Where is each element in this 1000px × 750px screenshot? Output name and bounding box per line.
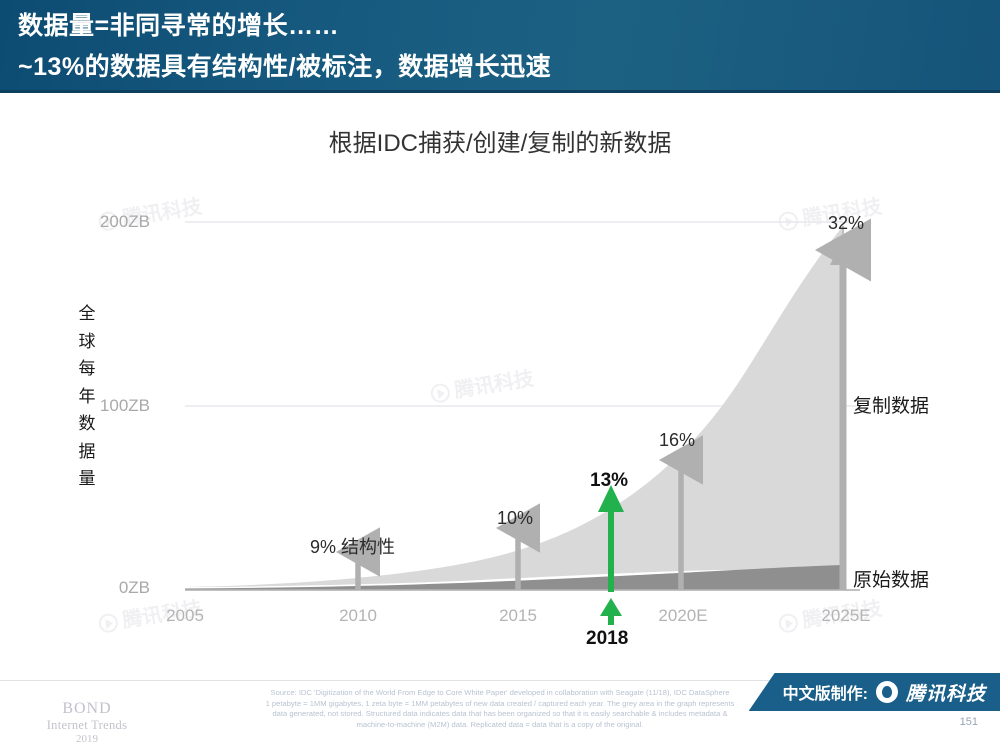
source-note-line-2: 1 petabyte = 1MM gigabytes, 1 zeta byte … — [180, 699, 820, 710]
bond-logo-subtitle: Internet Trends — [22, 718, 152, 733]
annotation-label-2015: 10% — [497, 508, 533, 529]
x-axis-tick-2020e: 2020E — [643, 606, 723, 626]
y-axis-caption-char: 量 — [72, 465, 102, 493]
y-axis-tick-200zb: 200ZB — [60, 212, 150, 232]
x-axis-tick-2010: 2010 — [318, 606, 398, 626]
source-note: Source: IDC 'Digitization of the World F… — [180, 688, 820, 730]
slide: 数据量=非同寻常的增长…… ~13%的数据具有结构性/被标注，数据增长迅速 根据… — [0, 0, 1000, 750]
bond-logo-name: BOND — [22, 700, 152, 718]
tencent-credit-banner: 中文版制作: 腾讯科技 — [749, 673, 1000, 711]
bond-logo: BOND Internet Trends 2019 — [22, 700, 152, 745]
header-title-line-2: ~13%的数据具有结构性/被标注，数据增长迅速 — [18, 46, 1000, 88]
y-axis-caption: 全 球 每 年 数 据 量 — [72, 300, 102, 493]
slide-header: 数据量=非同寻常的增长…… ~13%的数据具有结构性/被标注，数据增长迅速 — [0, 0, 1000, 93]
source-note-line-4: machine-to-machine (M2M) data. Replicate… — [180, 720, 820, 731]
tencent-logo-icon — [876, 681, 898, 703]
source-note-line-3: data generated, not stored. Structured d… — [180, 709, 820, 720]
highlight-year-label: 2018 — [586, 628, 628, 650]
y-axis-caption-char: 每 — [72, 355, 102, 383]
bond-logo-year: 2019 — [22, 733, 152, 745]
annotation-label-2018: 13% — [590, 470, 628, 492]
annotation-label-2010: 9% 结构性 — [310, 533, 395, 559]
annotation-label-2025: 32% — [828, 213, 864, 234]
source-note-line-1: Source: IDC 'Digitization of the World F… — [180, 688, 820, 699]
tencent-brand-name: 腾讯科技 — [906, 679, 986, 706]
series-label-original-data: 原始数据 — [853, 565, 929, 592]
y-axis-caption-char: 球 — [72, 328, 102, 356]
chart-svg — [0, 180, 1000, 650]
axis-marker-2018-highlight — [600, 598, 622, 625]
y-axis-caption-char: 年 — [72, 383, 102, 411]
chart-title: 根据IDC捕获/创建/复制的新数据 — [0, 123, 1000, 158]
y-axis-tick-0zb: 0ZB — [60, 578, 150, 598]
y-axis-caption-char: 数 — [72, 410, 102, 438]
chart-plot-area — [0, 180, 1000, 650]
x-axis-tick-2025e: 2025E — [806, 606, 886, 626]
x-axis-tick-2005: 2005 — [145, 606, 225, 626]
header-title-line-1: 数据量=非同寻常的增长…… — [18, 6, 1000, 46]
annotation-label-2020: 16% — [659, 430, 695, 451]
y-axis-caption-char: 全 — [72, 300, 102, 328]
y-axis-caption-char: 据 — [72, 438, 102, 466]
x-axis-tick-2015: 2015 — [478, 606, 558, 626]
tencent-credit-prefix: 中文版制作: — [783, 680, 868, 704]
series-label-replicated-data: 复制数据 — [853, 391, 929, 418]
page-number: 151 — [960, 716, 978, 728]
